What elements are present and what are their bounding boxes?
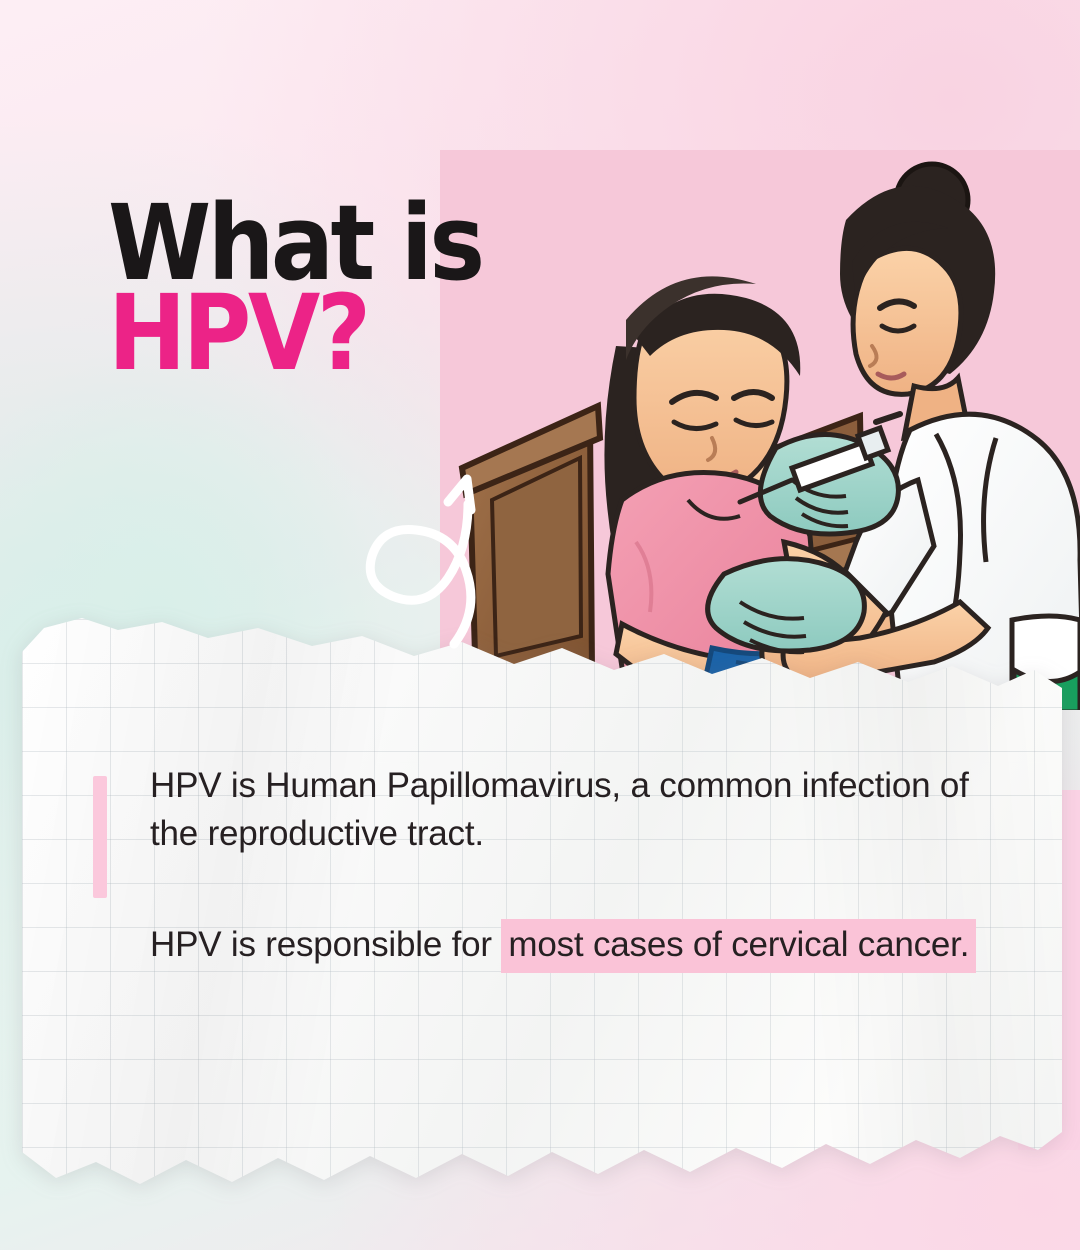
pink-accent-bar <box>93 776 107 898</box>
highlighted-phrase: most cases of cervical cancer. <box>501 919 976 973</box>
body-copy: HPV is Human Papillomavirus, a common in… <box>150 762 980 969</box>
paragraph-lead-text: HPV is responsible for <box>150 925 501 964</box>
paragraph-definition: HPV is Human Papillomavirus, a common in… <box>150 762 980 857</box>
page-title: What is HPV? <box>108 196 482 381</box>
paragraph-responsibility: HPV is responsible for most cases of cer… <box>150 921 980 969</box>
curly-arrow-icon <box>336 452 486 652</box>
hpv-infographic-poster: What is HPV? HPV is Human Papillomavirus… <box>0 0 1080 1250</box>
